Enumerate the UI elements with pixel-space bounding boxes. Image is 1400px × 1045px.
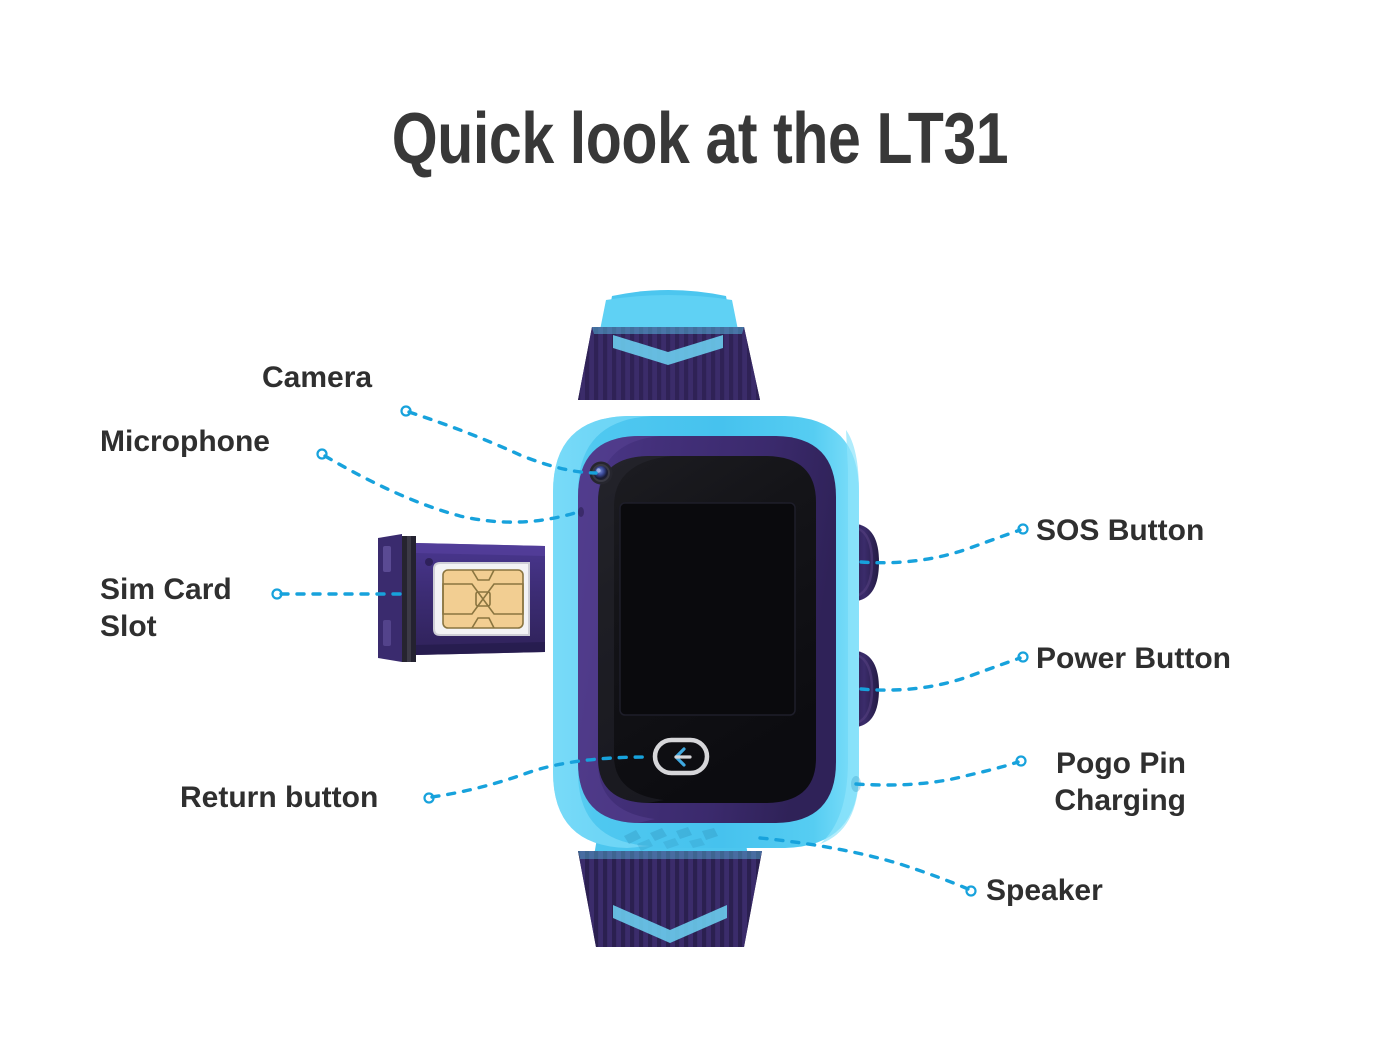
product-diagram-page: Quick look at the LT31	[0, 0, 1400, 1045]
callout-label-power-button: Power Button	[1036, 641, 1231, 678]
callout-label-speaker: Speaker	[986, 873, 1103, 910]
display-area	[620, 503, 795, 715]
callout-label-camera: Camera	[262, 360, 372, 397]
callout-label-microphone: Microphone	[100, 424, 270, 461]
tray-pinhole	[425, 558, 433, 566]
leader-endpoint-speaker	[967, 887, 976, 896]
leader-line-sos-button	[861, 530, 1020, 563]
callout-label-return-button: Return button	[180, 780, 378, 817]
leader-endpoint-microphone	[318, 450, 327, 459]
sim-card-tray[interactable]	[378, 534, 545, 662]
callout-label-sos-button: SOS Button	[1036, 513, 1204, 550]
leader-line-microphone	[325, 456, 578, 522]
sim-chip	[443, 570, 523, 628]
leader-line-power-button	[861, 658, 1020, 690]
callout-label-sim-card-slot: Sim Card Slot	[100, 572, 232, 645]
callout-label-pogo-pin-charging: Pogo Pin Charging	[854, 746, 1186, 819]
watch-strap-top	[570, 290, 770, 408]
microphone-port	[578, 507, 584, 517]
